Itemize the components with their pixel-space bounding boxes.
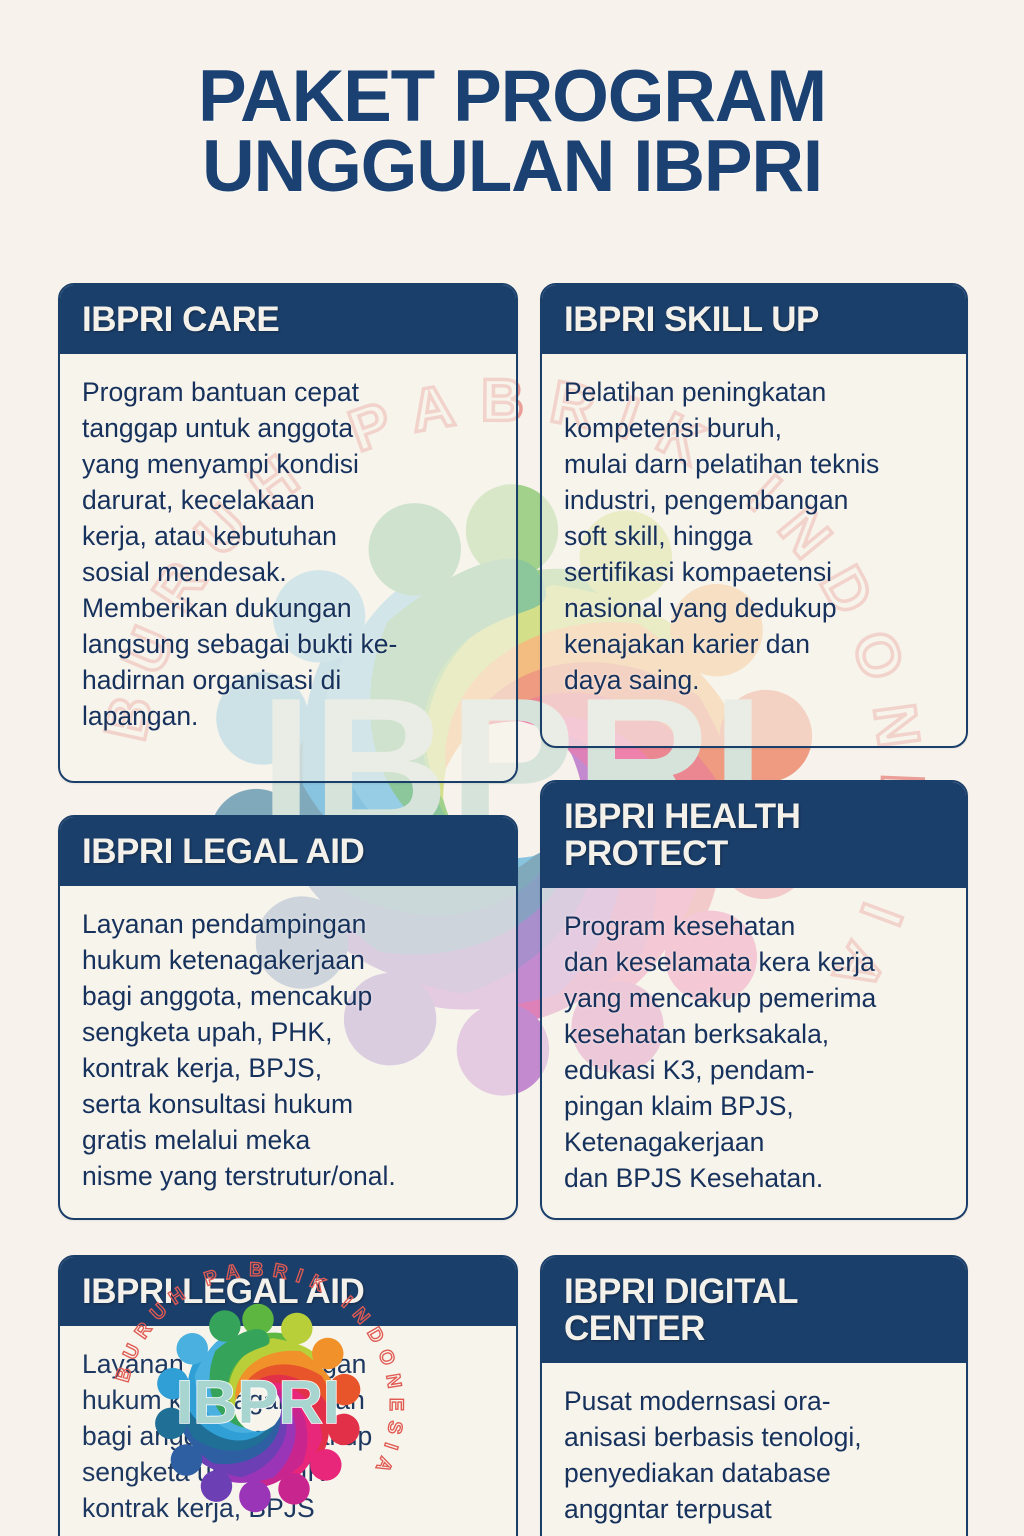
- card-description: Program kesehatan dan keselamata kera ke…: [564, 908, 944, 1196]
- card-title: IBPRI LEGAL AID: [82, 833, 494, 870]
- card-title: IBPRI CARE: [82, 301, 494, 338]
- card-header: IBPRI HEALTH PROTECT: [542, 782, 966, 888]
- page-title: PAKET PROGRAM UNGGULAN IBPRI: [0, 62, 1024, 202]
- card-header: IBPRI CARE: [60, 285, 516, 354]
- program-card-ibpri-digital-center[interactable]: IBPRI DIGITAL CENTER Pusat modernsasi or…: [540, 1255, 968, 1536]
- page-title-line-1: PAKET PROGRAM: [198, 56, 826, 137]
- card-title: IBPRI HEALTH PROTECT: [564, 798, 944, 872]
- card-description: Layanan pendampingan hukum ketenagakerja…: [82, 1346, 494, 1526]
- card-body: Layanan pendampingan hukum ketenagakerja…: [60, 886, 516, 1212]
- card-header: IBPRI DIGITAL CENTER: [542, 1257, 966, 1363]
- card-title: IBPRI LEGAL AID: [82, 1273, 494, 1310]
- program-card-ibpri-care[interactable]: IBPRI CARE Program bantuan cepat tanggap…: [58, 283, 518, 783]
- card-body: Layanan pendampingan hukum ketenagakerja…: [60, 1326, 516, 1536]
- card-body: Program kesehatan dan keselamata kera ke…: [542, 888, 966, 1214]
- program-card-ibpri-legal-aid[interactable]: IBPRI LEGAL AID Layanan pendampingan huk…: [58, 815, 518, 1220]
- program-card-ibpri-legal-aid-duplicate[interactable]: IBPRI LEGAL AID Layanan pendampingan huk…: [58, 1255, 518, 1536]
- card-body: Pusat modernsasi ora- anisasi berbasis t…: [542, 1363, 966, 1536]
- card-description: Pelatihan peningkatan kompetensi buruh, …: [564, 374, 944, 698]
- card-body: Program bantuan cepat tanggap untuk angg…: [60, 354, 516, 752]
- card-title: IBPRI SKILL UP: [564, 301, 944, 338]
- card-title: IBPRI DIGITAL CENTER: [564, 1273, 944, 1347]
- card-header: IBPRI LEGAL AID: [60, 817, 516, 886]
- card-description: Pusat modernsasi ora- anisasi berbasis t…: [564, 1383, 944, 1527]
- card-description: Program bantuan cepat tanggap untuk angg…: [82, 374, 494, 734]
- card-body: Pelatihan peningkatan kompetensi buruh, …: [542, 354, 966, 716]
- card-description: Layanan pendampingan hukum ketenagakerja…: [82, 906, 494, 1194]
- card-header: IBPRI LEGAL AID: [60, 1257, 516, 1326]
- program-card-ibpri-health-protect[interactable]: IBPRI HEALTH PROTECT Program kesehatan d…: [540, 780, 968, 1220]
- program-card-ibpri-skill-up[interactable]: IBPRI SKILL UP Pelatihan peningkatan kom…: [540, 283, 968, 748]
- page-title-line-2: UNGGULAN IBPRI: [0, 132, 1024, 202]
- card-header: IBPRI SKILL UP: [542, 285, 966, 354]
